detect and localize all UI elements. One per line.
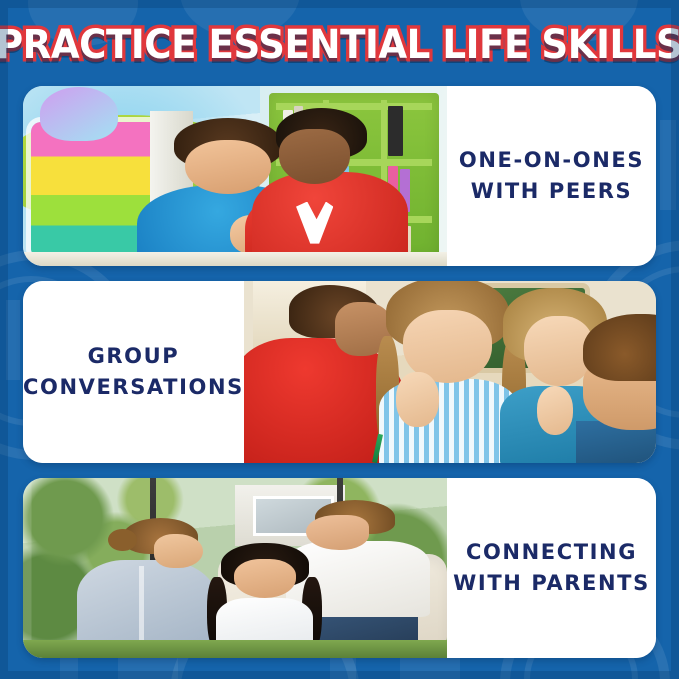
feature-card-connecting-with-parents: CONNECTING WITH PARENTS [23, 478, 656, 658]
mother-denim-jacket [82, 518, 226, 658]
feature-card-one-on-ones: ONE-ON-ONES WITH PEERS [23, 86, 656, 266]
pattern-stripe [118, 658, 178, 679]
poster-title: PRACTICE ESSENTIAL LIFE SKILLS [0, 22, 679, 68]
card-label-group-conversations: GROUP CONVERSATIONS [23, 281, 244, 463]
pattern-stripe [60, 658, 78, 679]
card-label-line-2: CONVERSATIONS [23, 372, 244, 404]
pattern-stripe [6, 300, 20, 380]
poster-title-container: PRACTICE ESSENTIAL LIFE SKILLS [0, 18, 679, 72]
feature-card-group-conversations: GROUP CONVERSATIONS [23, 281, 656, 463]
poster-canvas: PRACTICE ESSENTIAL LIFE SKILLS [0, 0, 679, 679]
pattern-stripe [400, 658, 460, 679]
photo-group-conversations [244, 281, 656, 463]
boy-back-of-head [576, 314, 656, 463]
card-label-line-1: ONE-ON-ONES [459, 145, 644, 177]
card-label-line-1: GROUP [88, 341, 180, 373]
card-label-connecting-with-parents: CONNECTING WITH PARENTS [447, 478, 656, 658]
card-label-line-2: WITH PEERS [471, 176, 633, 208]
photo-connecting-with-parents [23, 478, 447, 658]
card-label-one-on-ones: ONE-ON-ONES WITH PEERS [447, 86, 656, 266]
pattern-stripe [330, 658, 356, 679]
classroom-desk [23, 252, 447, 266]
card-label-line-1: CONNECTING [466, 537, 637, 569]
card-label-line-2: WITH PARENTS [453, 568, 650, 600]
photo-one-on-ones [23, 86, 447, 266]
child-red-shirt [252, 108, 422, 266]
grass-strip [23, 640, 447, 658]
pattern-stripe [660, 120, 676, 210]
